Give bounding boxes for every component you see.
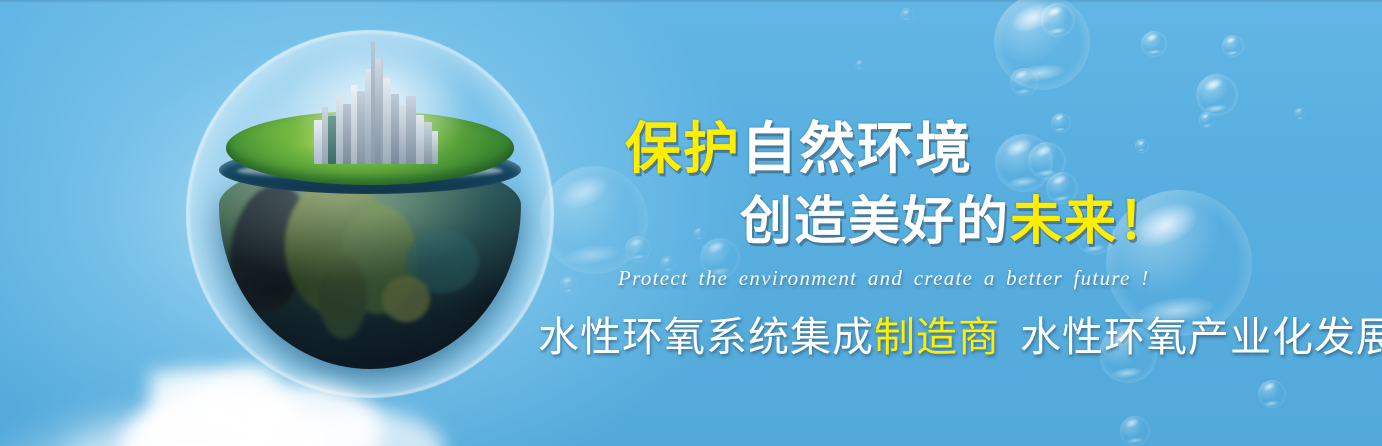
subline: 水性环氧系统集成制造商水性环氧产业化发展基地 — [538, 317, 1382, 358]
headline-line-2-highlight: 未来！ — [1010, 193, 1172, 251]
headline-line-1-rest: 自然环境 — [741, 117, 973, 180]
environment-banner: 保护自然环境 创造美好的未来！ Protect the environment … — [0, 0, 1382, 446]
english-tagline: Protect the environment and create a bet… — [618, 266, 1150, 291]
headline-line-1-highlight: 保护 — [625, 117, 741, 180]
headline-line-2: 创造美好的未来！ — [740, 196, 1172, 248]
subline-part1-white: 水性环氧系统集成 — [538, 314, 874, 360]
subline-part1-highlight: 制造商 — [874, 314, 1000, 360]
headline-line-2-rest: 创造美好的 — [740, 193, 1010, 251]
banner-copy: 保护自然环境 创造美好的未来！ Protect the environment … — [0, 0, 1382, 446]
subline-part2-white: 水性环氧产业化发展 — [1020, 314, 1382, 360]
headline-line-1: 保护自然环境 — [625, 121, 973, 177]
